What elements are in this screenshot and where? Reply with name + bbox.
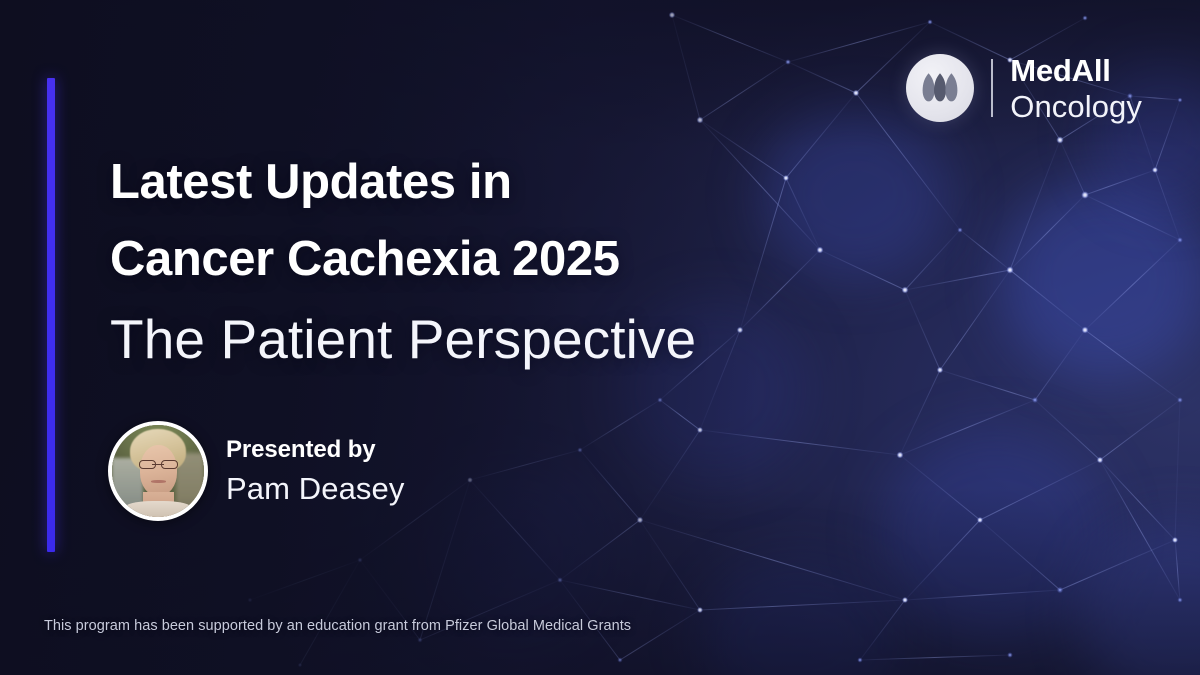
avatar — [108, 421, 208, 521]
brand-divider — [991, 59, 993, 117]
brand-lockup: MedAll Oncology — [906, 54, 1142, 122]
brand-name: MedAll — [1010, 55, 1142, 86]
presenter-photo — [112, 425, 204, 517]
medall-logo-icon — [906, 54, 974, 122]
accent-bar — [47, 78, 55, 552]
subtitle: The Patient Perspective — [110, 312, 696, 367]
title-line-2: Cancer Cachexia 2025 — [110, 235, 696, 284]
title-slide: MedAll Oncology Latest Updates in Cancer… — [0, 0, 1200, 675]
title-line-1: Latest Updates in — [110, 158, 696, 207]
title-block: Latest Updates in Cancer Cachexia 2025 T… — [110, 158, 696, 367]
brand-specialty: Oncology — [1010, 91, 1142, 122]
presenter-name: Pam Deasey — [226, 473, 404, 504]
presenter-block: Presented by Pam Deasey — [108, 421, 404, 521]
funding-disclosure: This program has been supported by an ed… — [44, 618, 631, 634]
presenter-text: Presented by Pam Deasey — [226, 438, 404, 504]
presented-by-label: Presented by — [226, 438, 404, 462]
brand-text: MedAll Oncology — [1010, 55, 1142, 122]
